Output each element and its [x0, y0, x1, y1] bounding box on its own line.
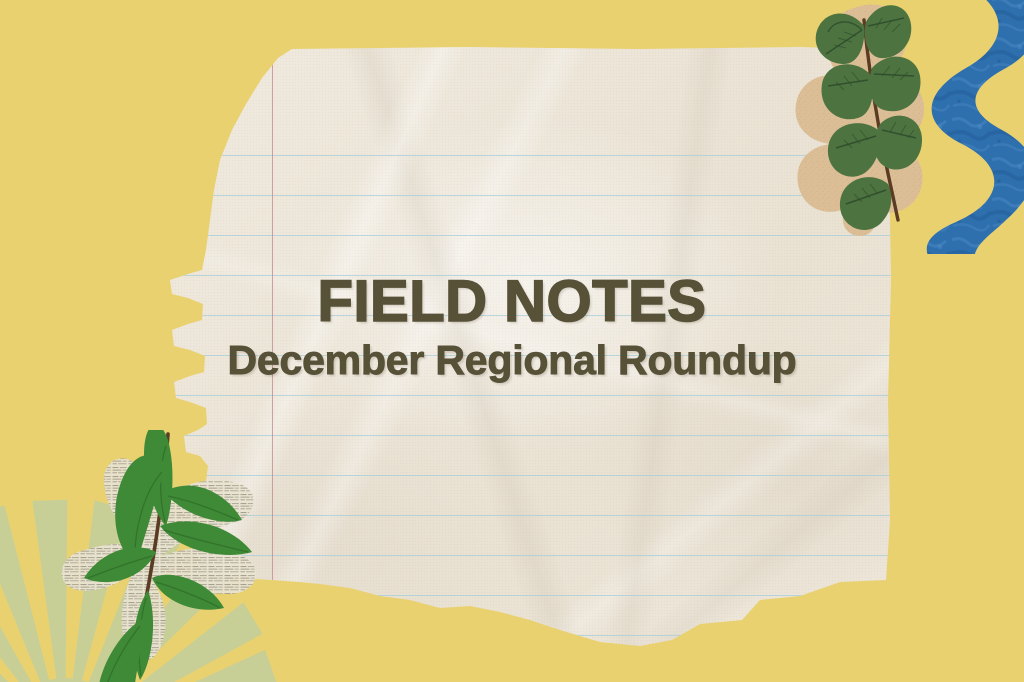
poster-background [0, 0, 1024, 682]
poster-canvas: FIELD NOTES December Regional Roundup [0, 0, 1024, 682]
